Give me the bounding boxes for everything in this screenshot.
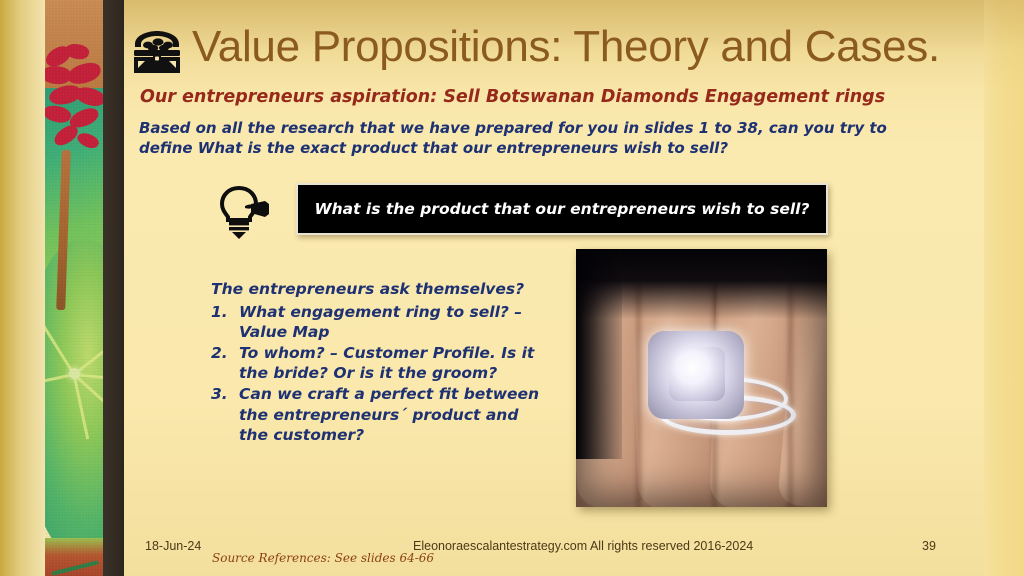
footer-date: 18-Jun-24 (145, 539, 201, 553)
questions-heading: The entrepreneurs ask themselves? (211, 280, 541, 300)
border-dark-divider (103, 0, 124, 576)
list-item-text: What engagement ring to sell? – Value Ma… (239, 302, 541, 342)
treasure-chest-icon (128, 28, 186, 76)
footer-page-number: 39 (922, 539, 936, 553)
lead-paragraph: Based on all the research that we have p… (139, 119, 929, 158)
list-item: 3. Can we craft a perfect fit between th… (211, 384, 541, 444)
diamond-engagement-ring-photo (576, 249, 827, 507)
footer-source: Source References: See slides 64-66 (212, 551, 434, 565)
list-item-text: Can we craft a perfect fit between the e… (239, 384, 541, 444)
page-title: Value Propositions: Theory and Cases. (192, 22, 940, 72)
slide-subtitle: Our entrepreneurs aspiration: Sell Botsw… (140, 87, 885, 107)
callout-text: What is the product that our entrepreneu… (315, 200, 810, 218)
list-item-number: 2. (211, 343, 239, 383)
footer-copyright: Eleonoraescalantestrategy.com All rights… (413, 539, 753, 553)
border-paper-texture (45, 0, 103, 576)
entrepreneur-questions-list: The entrepreneurs ask themselves? 1. Wha… (211, 280, 541, 446)
list-item-text: To whom? – Customer Profile. Is it the b… (239, 343, 541, 383)
presentation-slide: Value Propositions: Theory and Cases. Ou… (0, 0, 1024, 576)
border-botanical-image (45, 0, 103, 576)
list-item: 1. What engagement ring to sell? – Value… (211, 302, 541, 342)
photo-vignette (576, 249, 827, 507)
left-decorative-border (0, 0, 124, 576)
list-item: 2. To whom? – Customer Profile. Is it th… (211, 343, 541, 383)
list-item-number: 1. (211, 302, 239, 342)
lightbulb-idea-icon (215, 182, 277, 240)
question-callout-box: What is the product that our entrepreneu… (296, 183, 828, 235)
list-item-number: 3. (211, 384, 239, 444)
